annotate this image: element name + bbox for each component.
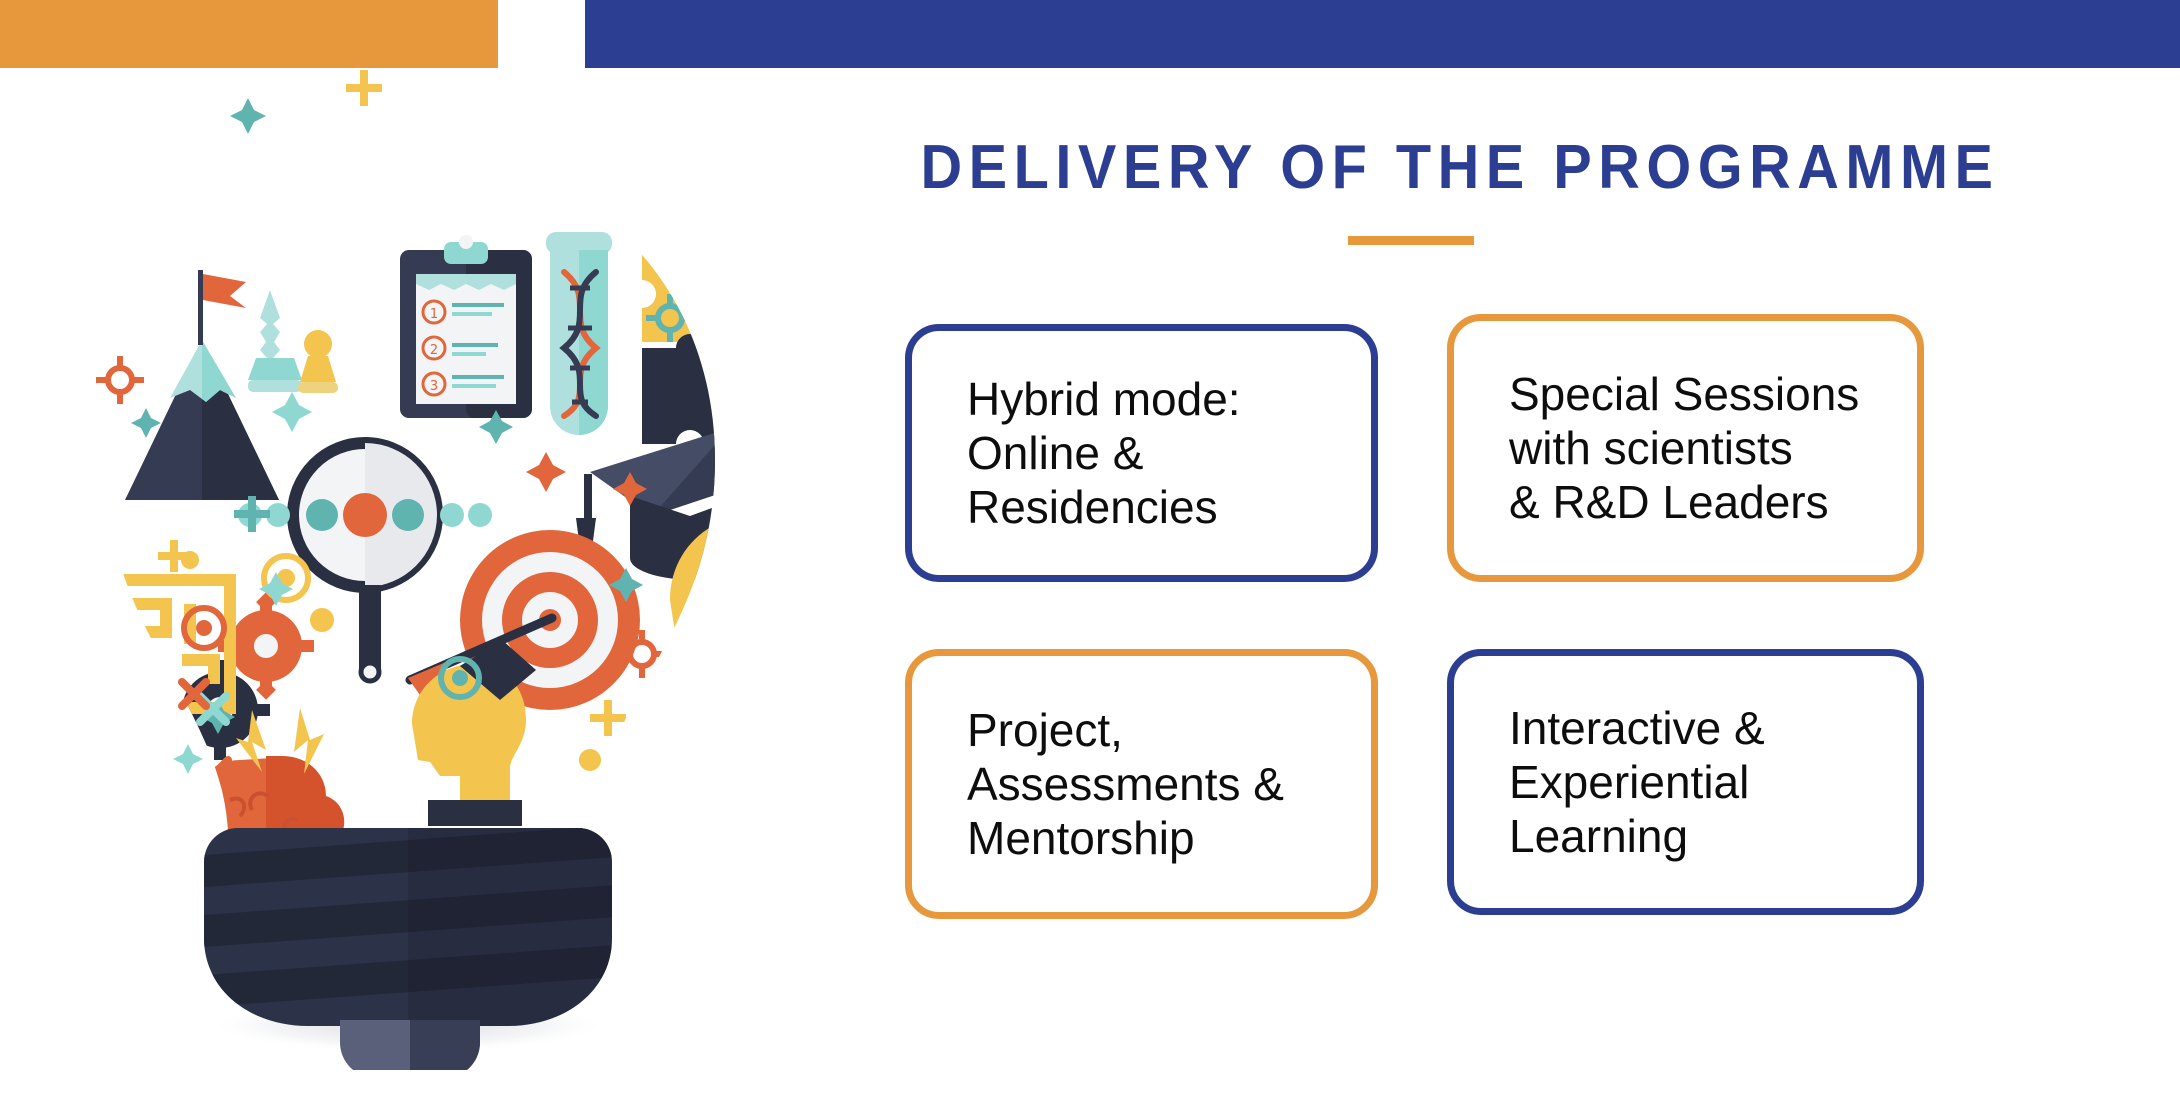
chess-pieces-icon (248, 290, 338, 393)
content-box-special-sessions[interactable]: Special Sessions with scientists & R&D L… (1447, 314, 1924, 582)
sparkle-icon (131, 408, 161, 438)
lightbulb-illustration: 1 2 3 (30, 60, 790, 1070)
plus-icon (346, 70, 382, 106)
content-box-hybrid-mode[interactable]: Hybrid mode: Online & Residencies (905, 324, 1378, 582)
content-box-label: Special Sessions with scientists & R&D L… (1509, 367, 1859, 530)
puzzle-piece-icon (642, 232, 790, 444)
sparkle-icon (230, 98, 266, 134)
content-box-label: Interactive & Experiential Learning (1509, 701, 1765, 864)
topbar-orange-block (0, 0, 498, 68)
content-box-project-assessments[interactable]: Project, Assessments & Mentorship (905, 649, 1378, 919)
sparkle-icon (173, 744, 203, 774)
svg-text:1: 1 (430, 307, 438, 322)
title-underline-rule (1348, 236, 1474, 245)
page-title: DELIVERY OF THE PROGRAMME (837, 132, 2083, 203)
content-box-label: Project, Assessments & Mentorship (967, 703, 1284, 866)
clipboard-checklist-icon: 1 2 3 (400, 235, 532, 418)
content-boxes-grid: Hybrid mode: Online & Residencies Specia… (905, 324, 1935, 919)
content-box-interactive-learning[interactable]: Interactive & Experiential Learning (1447, 649, 1924, 915)
svg-text:3: 3 (430, 379, 438, 394)
clock-icon (614, 788, 718, 892)
topbar-blue-block (585, 0, 2180, 68)
content-box-label: Hybrid mode: Online & Residencies (967, 372, 1241, 535)
test-tube-dna-icon (546, 232, 612, 435)
svg-text:2: 2 (430, 343, 438, 358)
crosshair-icon (96, 356, 144, 404)
slide-root: DELIVERY OF THE PROGRAMME Hybrid mode: O… (0, 0, 2180, 1114)
